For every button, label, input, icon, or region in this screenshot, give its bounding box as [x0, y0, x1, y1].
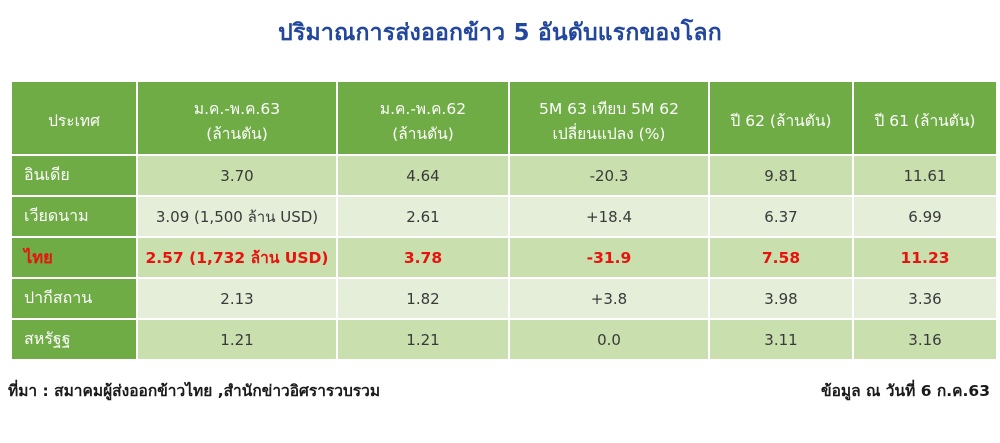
cell-year-61: 11.23	[854, 238, 996, 277]
column-header-change-pct: 5M 63 เทียบ 5M 62 เปลี่ยนแปลง (%)	[510, 82, 708, 154]
footer-source: ที่มา : สมาคมผู้ส่งออกข้าวไทย ,สำนักข่าว…	[8, 378, 380, 403]
cell-year-62: 3.11	[710, 320, 852, 359]
cell-change-pct: -20.3	[510, 156, 708, 195]
cell-jan-may-62: 1.82	[338, 279, 508, 318]
cell-jan-may-63: 3.70	[138, 156, 336, 195]
column-header-year-62: ปี 62 (ล้านตัน)	[710, 82, 852, 154]
cell-jan-may-62: 1.21	[338, 320, 508, 359]
cell-jan-may-63: 3.09 (1,500 ล้าน USD)	[138, 197, 336, 236]
cell-year-62: 9.81	[710, 156, 852, 195]
cell-country: สหรัฐฐ	[12, 320, 136, 359]
cell-country: อินเดีย	[12, 156, 136, 195]
cell-year-61: 3.16	[854, 320, 996, 359]
cell-jan-may-62: 3.78	[338, 238, 508, 277]
cell-jan-may-62: 2.61	[338, 197, 508, 236]
cell-jan-may-62: 4.64	[338, 156, 508, 195]
table-body: อินเดีย 3.70 4.64 -20.3 9.81 11.61 เวียด…	[12, 156, 996, 359]
cell-change-pct: -31.9	[510, 238, 708, 277]
cell-change-pct: +3.8	[510, 279, 708, 318]
table-header-row: ประเทศ ม.ค.-พ.ค.63 (ล้านตัน) ม.ค.-พ.ค.62…	[12, 82, 996, 154]
footer-as-of-date: ข้อมูล ณ วันที่ 6 ก.ค.63	[821, 378, 990, 403]
cell-change-pct: +18.4	[510, 197, 708, 236]
cell-jan-may-63: 2.13	[138, 279, 336, 318]
table-row: สหรัฐฐ 1.21 1.21 0.0 3.11 3.16	[12, 320, 996, 359]
cell-change-pct: 0.0	[510, 320, 708, 359]
cell-year-61: 6.99	[854, 197, 996, 236]
table-row-highlighted: ไทย 2.57 (1,732 ล้าน USD) 3.78 -31.9 7.5…	[12, 238, 996, 277]
cell-year-61: 3.36	[854, 279, 996, 318]
table-header: ประเทศ ม.ค.-พ.ค.63 (ล้านตัน) ม.ค.-พ.ค.62…	[12, 82, 996, 154]
column-header-country: ประเทศ	[12, 82, 136, 154]
column-header-jan-may-62: ม.ค.-พ.ค.62 (ล้านตัน)	[338, 82, 508, 154]
table-row: ปากีสถาน 2.13 1.82 +3.8 3.98 3.36	[12, 279, 996, 318]
cell-country: ไทย	[12, 238, 136, 277]
column-header-jan-may-63: ม.ค.-พ.ค.63 (ล้านตัน)	[138, 82, 336, 154]
column-header-year-61: ปี 61 (ล้านตัน)	[854, 82, 996, 154]
rice-export-table: ประเทศ ม.ค.-พ.ค.63 (ล้านตัน) ม.ค.-พ.ค.62…	[10, 80, 998, 361]
cell-country: เวียดนาม	[12, 197, 136, 236]
cell-jan-may-63: 1.21	[138, 320, 336, 359]
infographic-table-page: ปริมาณการส่งออกข้าว 5 อันดับแรกของโลก ปร…	[0, 0, 1000, 443]
rice-export-table-container: ประเทศ ม.ค.-พ.ค.63 (ล้านตัน) ม.ค.-พ.ค.62…	[10, 80, 990, 361]
cell-country: ปากีสถาน	[12, 279, 136, 318]
table-row: เวียดนาม 3.09 (1,500 ล้าน USD) 2.61 +18.…	[12, 197, 996, 236]
page-title: ปริมาณการส่งออกข้าว 5 อันดับแรกของโลก	[0, 20, 1000, 48]
cell-year-62: 7.58	[710, 238, 852, 277]
footer: ที่มา : สมาคมผู้ส่งออกข้าวไทย ,สำนักข่าว…	[0, 378, 1000, 408]
cell-year-62: 6.37	[710, 197, 852, 236]
cell-jan-may-63: 2.57 (1,732 ล้าน USD)	[138, 238, 336, 277]
table-row: อินเดีย 3.70 4.64 -20.3 9.81 11.61	[12, 156, 996, 195]
cell-year-61: 11.61	[854, 156, 996, 195]
cell-year-62: 3.98	[710, 279, 852, 318]
